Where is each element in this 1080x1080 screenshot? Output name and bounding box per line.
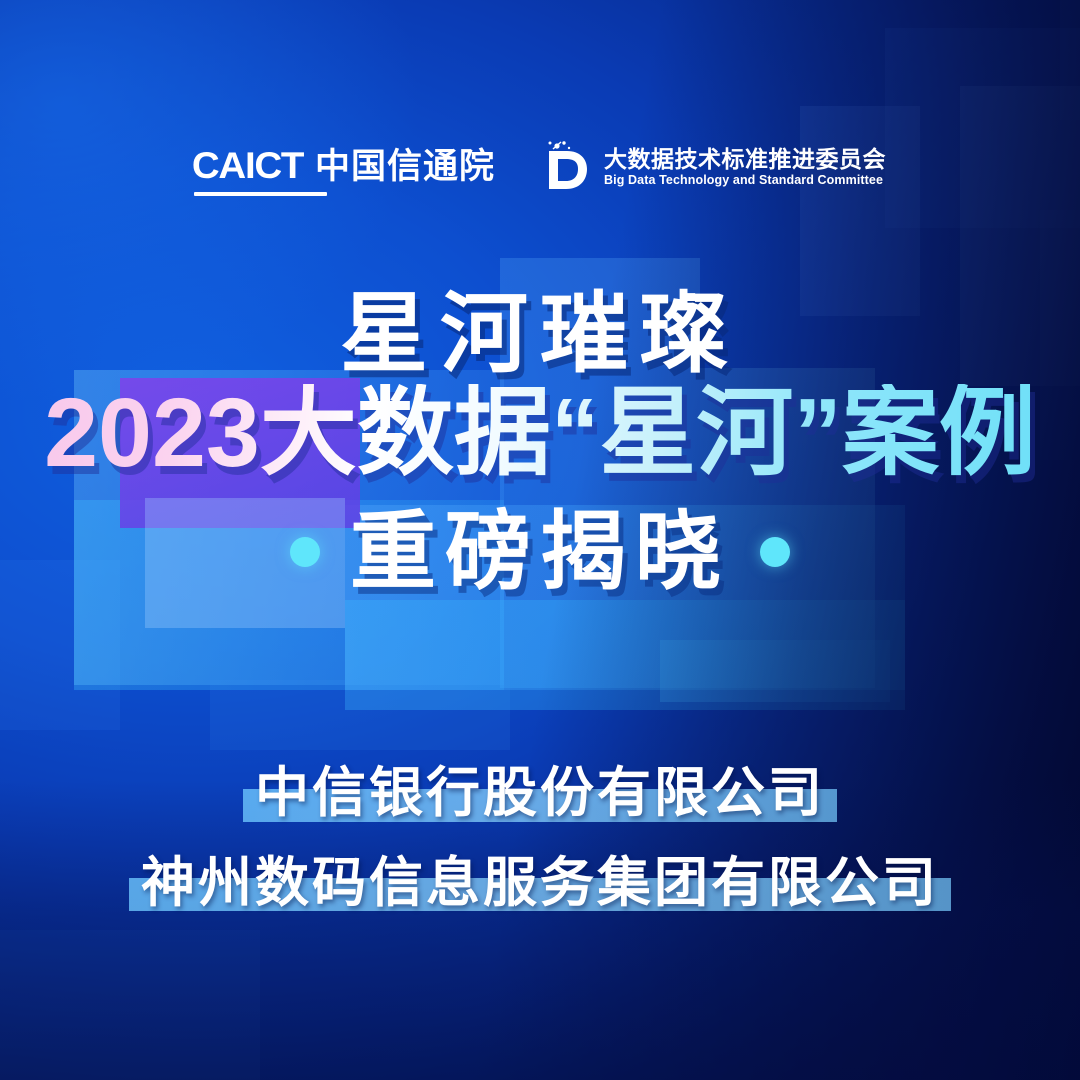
background-block-bl2 xyxy=(210,680,510,750)
caict-wordmark-icon: CAICT xyxy=(192,145,303,187)
decor-dot-right-icon xyxy=(760,537,790,567)
background-block-tr2 xyxy=(885,28,1080,228)
poster-canvas: CAICT 中国信通院 大数据技术标准推进委员会 Big Data Techno… xyxy=(0,0,1080,1080)
bdtsc-d-logo-icon xyxy=(539,139,591,195)
headline-line-3-row: 重磅揭晓 xyxy=(0,509,1080,595)
winner-item: 中信银行股份有限公司 xyxy=(255,762,825,826)
caict-logo: CAICT 中国信通院 xyxy=(194,138,495,196)
headline-line-1: 星河璀璨 xyxy=(0,290,1080,378)
winner-name: 神州数码信息服务集团有限公司 xyxy=(141,853,939,913)
caict-chinese-name: 中国信通院 xyxy=(315,138,495,189)
background-block-center-plate-2 xyxy=(345,600,905,710)
background-block-bl3 xyxy=(0,930,260,1080)
headline-group: 星河璀璨 2023大数据“星河”案例 重磅揭晓 xyxy=(0,290,1080,595)
headline-line-3: 重磅揭晓 xyxy=(350,509,730,595)
caict-underline-rule xyxy=(194,192,327,196)
winner-name: 中信银行股份有限公司 xyxy=(255,763,825,823)
background-block-tr5 xyxy=(1060,0,1080,120)
winner-item: 神州数码信息服务集团有限公司 xyxy=(141,852,939,916)
decor-dot-left-icon xyxy=(290,537,320,567)
background-block-right-strip xyxy=(660,640,890,702)
committee-logo: 大数据技术标准推进委员会 Big Data Technology and Sta… xyxy=(539,139,886,195)
committee-name-en: Big Data Technology and Standard Committ… xyxy=(604,174,886,187)
committee-name-cn: 大数据技术标准推进委员会 xyxy=(604,148,886,171)
winner-list: 中信银行股份有限公司 神州数码信息服务集团有限公司 xyxy=(0,762,1080,915)
logo-row: CAICT 中国信通院 大数据技术标准推进委员会 Big Data Techno… xyxy=(0,138,1080,196)
headline-line-2: 2023大数据“星河”案例 xyxy=(44,384,1036,483)
